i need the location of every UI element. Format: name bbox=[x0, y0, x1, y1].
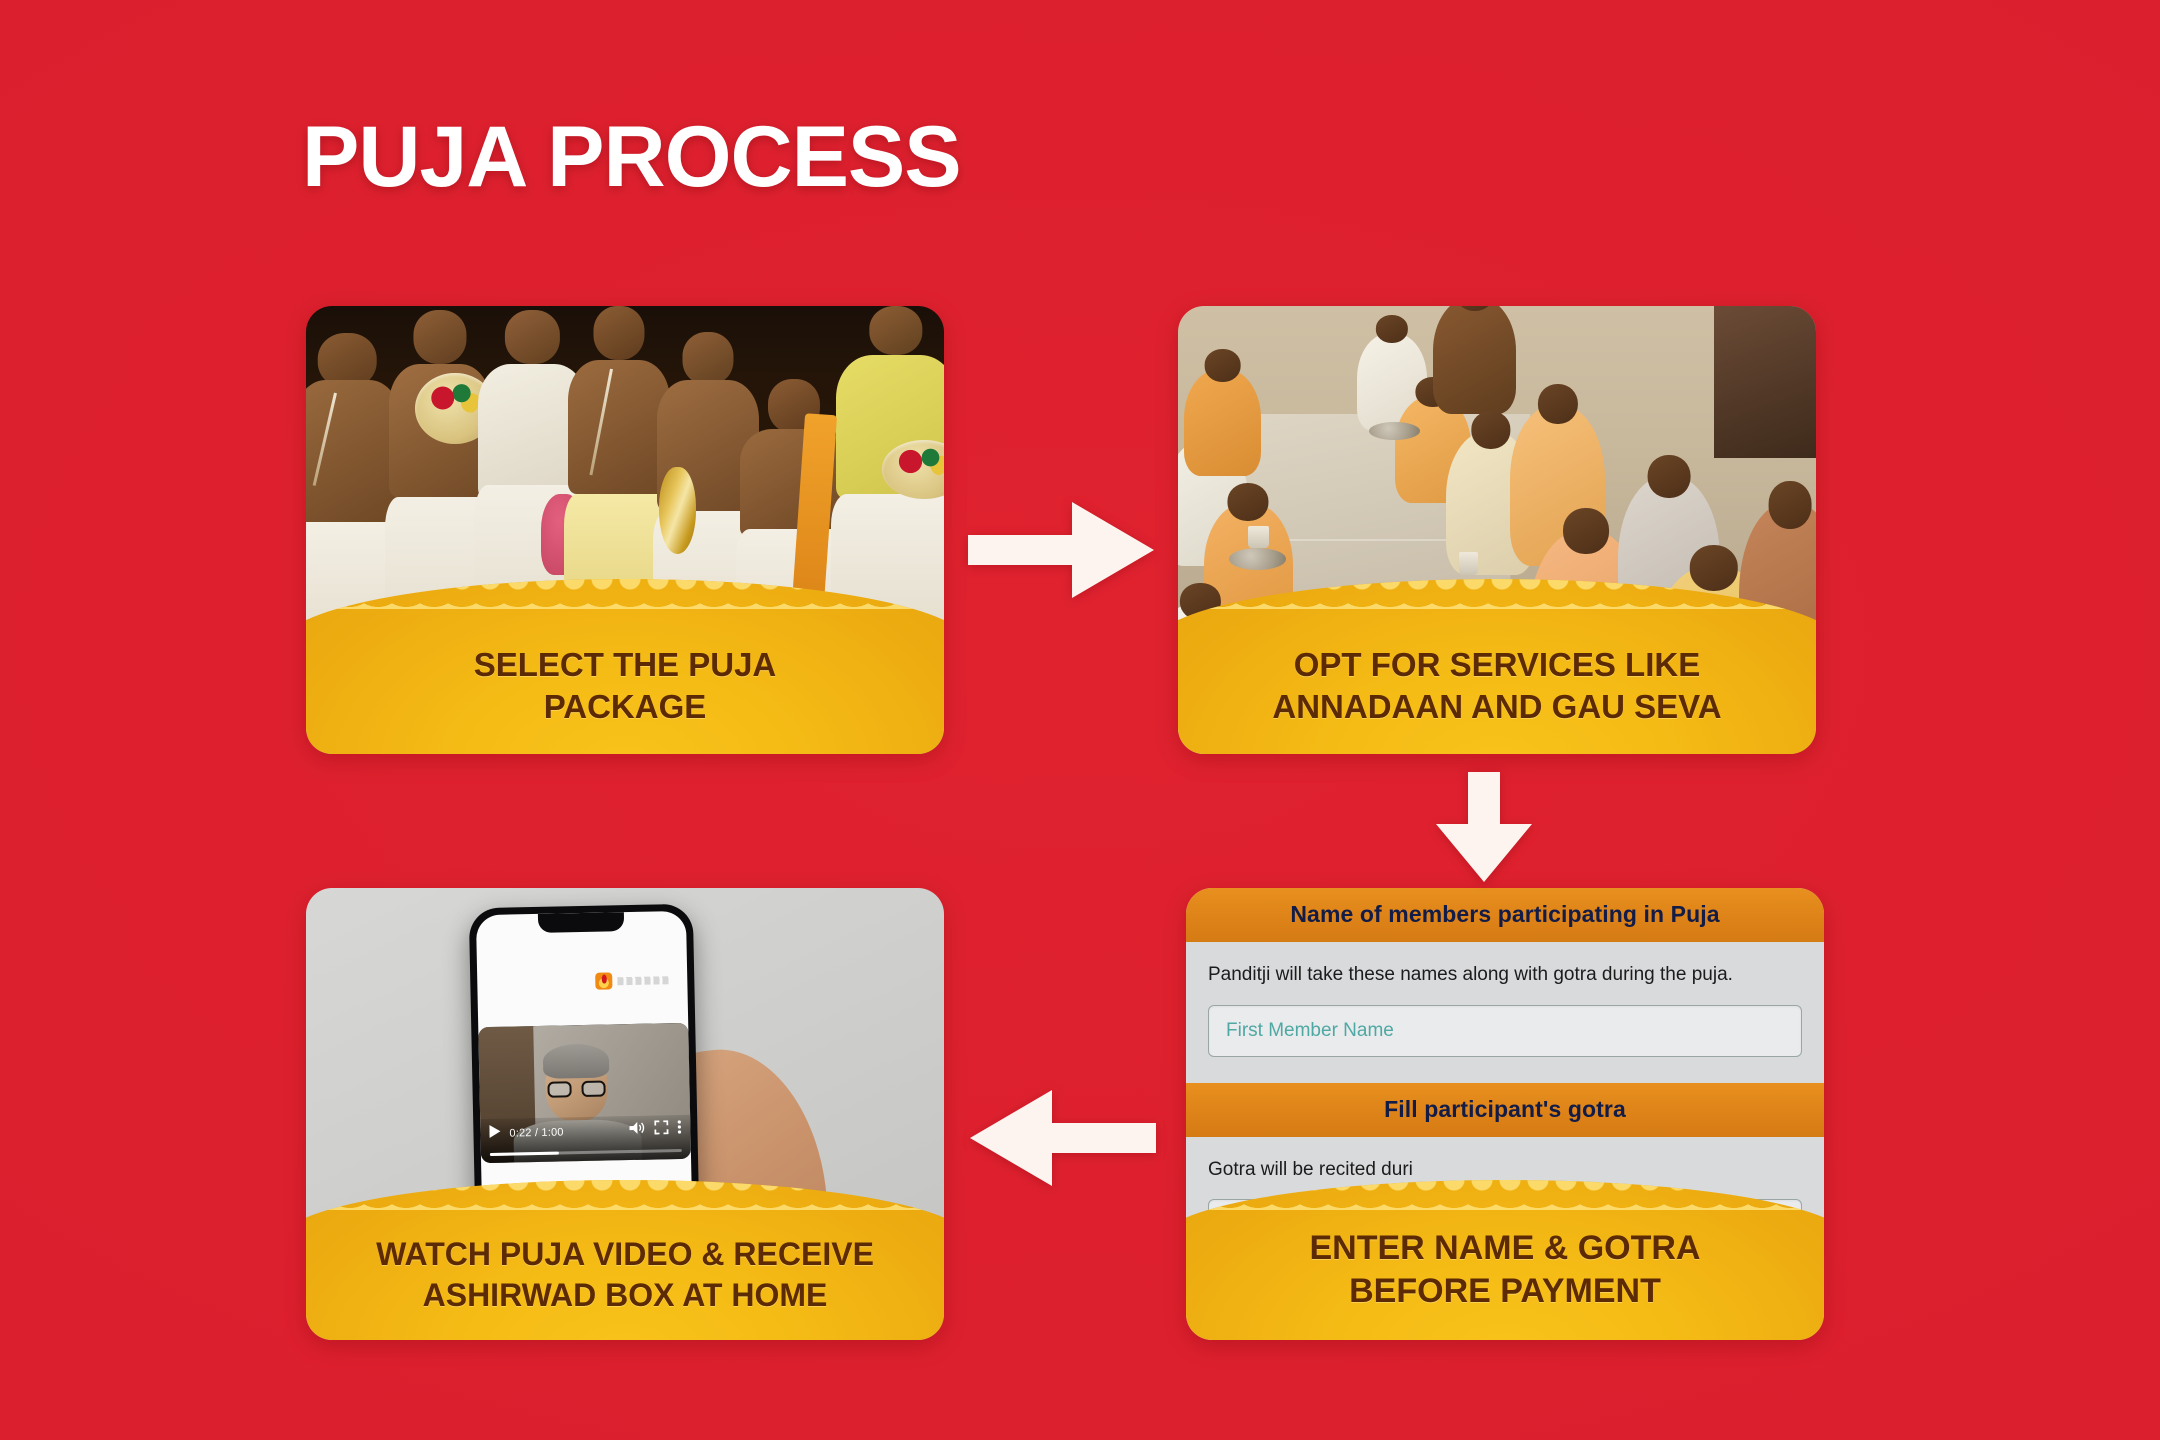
arrow-left-icon bbox=[970, 1086, 1156, 1190]
arrow-right-icon bbox=[968, 498, 1154, 602]
step-card-select-package[interactable]: SELECT THE PUJA PACKAGE bbox=[306, 306, 944, 754]
step-caption: SELECT THE PUJA PACKAGE bbox=[332, 644, 919, 754]
step-caption: WATCH PUJA VIDEO & RECEIVE ASHIRWAD BOX … bbox=[332, 1234, 919, 1340]
video-controls-bar[interactable]: 0:22 / 1:00 bbox=[480, 1115, 691, 1163]
members-note: Panditji will take these names along wit… bbox=[1208, 962, 1802, 988]
diya-flame-icon bbox=[595, 972, 612, 989]
smartphone: 0:22 / 1:00 bbox=[469, 904, 699, 1221]
app-brand-logo bbox=[595, 971, 669, 990]
water-cup bbox=[1248, 526, 1268, 548]
caption-line-1: SELECT THE PUJA bbox=[332, 644, 919, 686]
video-progress-bar[interactable] bbox=[490, 1149, 682, 1156]
gotra-section-header: Fill participant's gotra bbox=[1186, 1083, 1824, 1137]
caption-banner: OPT FOR SERVICES LIKE ANNADAAN AND GAU S… bbox=[1178, 579, 1816, 754]
step-card-enter-name-gotra[interactable]: Name of members participating in Puja Pa… bbox=[1186, 888, 1824, 1340]
caption-banner: WATCH PUJA VIDEO & RECEIVE ASHIRWAD BOX … bbox=[306, 1180, 944, 1340]
devotee bbox=[1184, 369, 1261, 477]
page-title: PUJA PROCESS bbox=[302, 114, 961, 200]
fullscreen-icon[interactable] bbox=[654, 1120, 668, 1139]
step-caption: OPT FOR SERVICES LIKE ANNADAAN AND GAU S… bbox=[1204, 644, 1791, 754]
first-member-name-placeholder: First Member Name bbox=[1226, 1020, 1394, 1042]
kebab-menu-icon[interactable] bbox=[677, 1120, 681, 1139]
caption-banner: SELECT THE PUJA PACKAGE bbox=[306, 579, 944, 754]
video-time-display: 0:22 / 1:00 bbox=[509, 1126, 563, 1139]
temple-doorway bbox=[1714, 306, 1816, 458]
arrow-down-icon bbox=[1432, 772, 1536, 882]
caption-line-1: WATCH PUJA VIDEO & RECEIVE bbox=[332, 1234, 919, 1275]
caption-line-2: ANNADAAN AND GAU SEVA bbox=[1204, 686, 1791, 728]
glasses-icon bbox=[547, 1081, 605, 1098]
caption-line-2: ASHIRWAD BOX AT HOME bbox=[332, 1275, 919, 1316]
step-card-watch-video[interactable]: 0:22 / 1:00 bbox=[306, 888, 944, 1340]
caption-banner: ENTER NAME & GOTRA BEFORE PAYMENT bbox=[1186, 1180, 1824, 1340]
first-member-name-input[interactable]: First Member Name bbox=[1208, 1005, 1802, 1057]
caption-line-2: PACKAGE bbox=[332, 686, 919, 728]
step-caption: ENTER NAME & GOTRA BEFORE PAYMENT bbox=[1212, 1227, 1799, 1340]
speaker-face bbox=[544, 1049, 607, 1122]
water-cup bbox=[1459, 552, 1478, 574]
gotra-note: Gotra will be recited duri bbox=[1208, 1157, 1802, 1183]
caption-line-2: BEFORE PAYMENT bbox=[1212, 1270, 1799, 1314]
caption-line-1: ENTER NAME & GOTRA bbox=[1212, 1227, 1799, 1271]
devotee bbox=[1433, 306, 1516, 414]
play-icon[interactable] bbox=[489, 1124, 500, 1142]
members-section-header: Name of members participating in Puja bbox=[1186, 888, 1824, 942]
caption-line-1: OPT FOR SERVICES LIKE bbox=[1204, 644, 1791, 686]
step-card-opt-services[interactable]: OPT FOR SERVICES LIKE ANNADAAN AND GAU S… bbox=[1178, 306, 1816, 754]
video-player[interactable]: 0:22 / 1:00 bbox=[478, 1023, 691, 1163]
kalash-vessel bbox=[659, 467, 696, 554]
phone-notch bbox=[538, 912, 624, 933]
volume-icon[interactable] bbox=[629, 1121, 645, 1140]
brand-wordmark bbox=[617, 976, 669, 985]
